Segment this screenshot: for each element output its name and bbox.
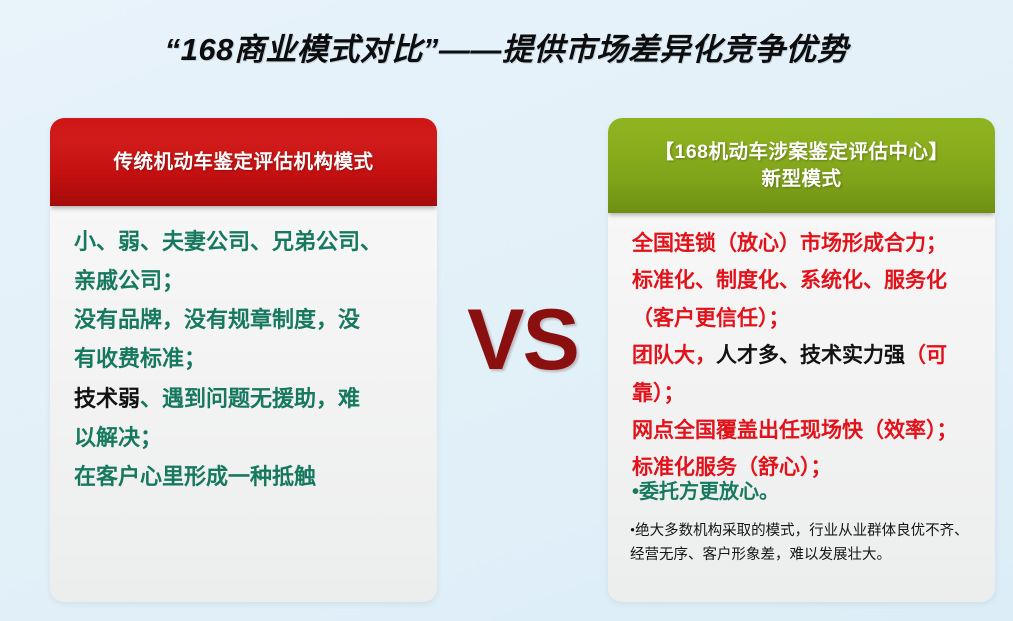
right-text-line: 标准化、制度化、系统化、服务化 xyxy=(632,262,977,299)
left-panel-header: 传统机动车鉴定评估机构模式 xyxy=(50,118,437,206)
left-text-line: 以解决； xyxy=(74,418,419,457)
right-text-line: （客户更信任）； xyxy=(632,300,977,337)
right-highlight-pre: 团队大， xyxy=(632,344,716,367)
right-panel-header-inner: 【168机动车涉案鉴定评估中心】 新型模式 xyxy=(644,139,958,192)
right-panel-header: 【168机动车涉案鉴定评估中心】 新型模式 xyxy=(608,118,995,213)
right-highlight-post: （可 xyxy=(905,344,947,367)
right-panel-header-line1: 【168机动车涉案鉴定评估中心】 xyxy=(654,141,948,163)
versus-label: VS xyxy=(437,297,608,383)
new-model-panel: 【168机动车涉案鉴定评估中心】 新型模式 全国连锁（放心）市场形成合力； 标准… xyxy=(608,118,995,602)
right-text-line: 网点全国覆盖出任现场快（效率）； xyxy=(632,412,977,449)
traditional-model-panel: 传统机动车鉴定评估机构模式 小、弱、夫妻公司、兄弟公司、 亲戚公司； 没有品牌，… xyxy=(50,118,437,602)
left-highlight-rest: 、遇到问题无援助，难 xyxy=(140,386,360,411)
left-panel-body: 小、弱、夫妻公司、兄弟公司、 亲戚公司； 没有品牌，没有规章制度，没 有收费标准… xyxy=(50,206,437,602)
left-text-line: 亲戚公司； xyxy=(74,261,419,300)
left-panel-text: 小、弱、夫妻公司、兄弟公司、 亲戚公司； 没有品牌，没有规章制度，没 有收费标准… xyxy=(74,222,419,496)
right-text-highlight-line: 团队大，人才多、技术实力强（可 xyxy=(632,337,977,374)
left-text-line: 小、弱、夫妻公司、兄弟公司、 xyxy=(74,222,419,261)
left-text-line: 没有品牌，没有规章制度，没 xyxy=(74,300,419,339)
right-text-line: 靠）； xyxy=(632,375,977,412)
left-text-line: 在客户心里形成一种抵触 xyxy=(74,457,419,496)
left-highlight-black: 技术弱 xyxy=(74,386,140,411)
left-text-highlight-line: 技术弱、遇到问题无援助，难 xyxy=(74,379,419,418)
left-text-line: 有收费标准； xyxy=(74,339,419,378)
right-panel-header-line2: 新型模式 xyxy=(761,168,841,190)
right-text-line: 全国连锁（放心）市场形成合力； xyxy=(632,225,977,262)
slide-canvas: “168商业模式对比”——提供市场差异化竞争优势 传统机动车鉴定评估机构模式 小… xyxy=(0,0,1013,621)
right-panel-body: 全国连锁（放心）市场形成合力； 标准化、制度化、系统化、服务化 （客户更信任）；… xyxy=(608,213,995,602)
right-highlight-black: 人才多、技术实力强 xyxy=(716,344,905,367)
page-title: “168商业模式对比”——提供市场差异化竞争优势 xyxy=(0,24,1013,69)
right-panel-footnote: •绝大多数机构采取的模式，行业从业群体良优不齐、经营无序、客户形象差，难以发展壮… xyxy=(630,520,981,568)
left-panel-header-label: 传统机动车鉴定评估机构模式 xyxy=(113,149,373,175)
right-panel-text: 全国连锁（放心）市场形成合力； 标准化、制度化、系统化、服务化 （客户更信任）；… xyxy=(632,225,977,510)
